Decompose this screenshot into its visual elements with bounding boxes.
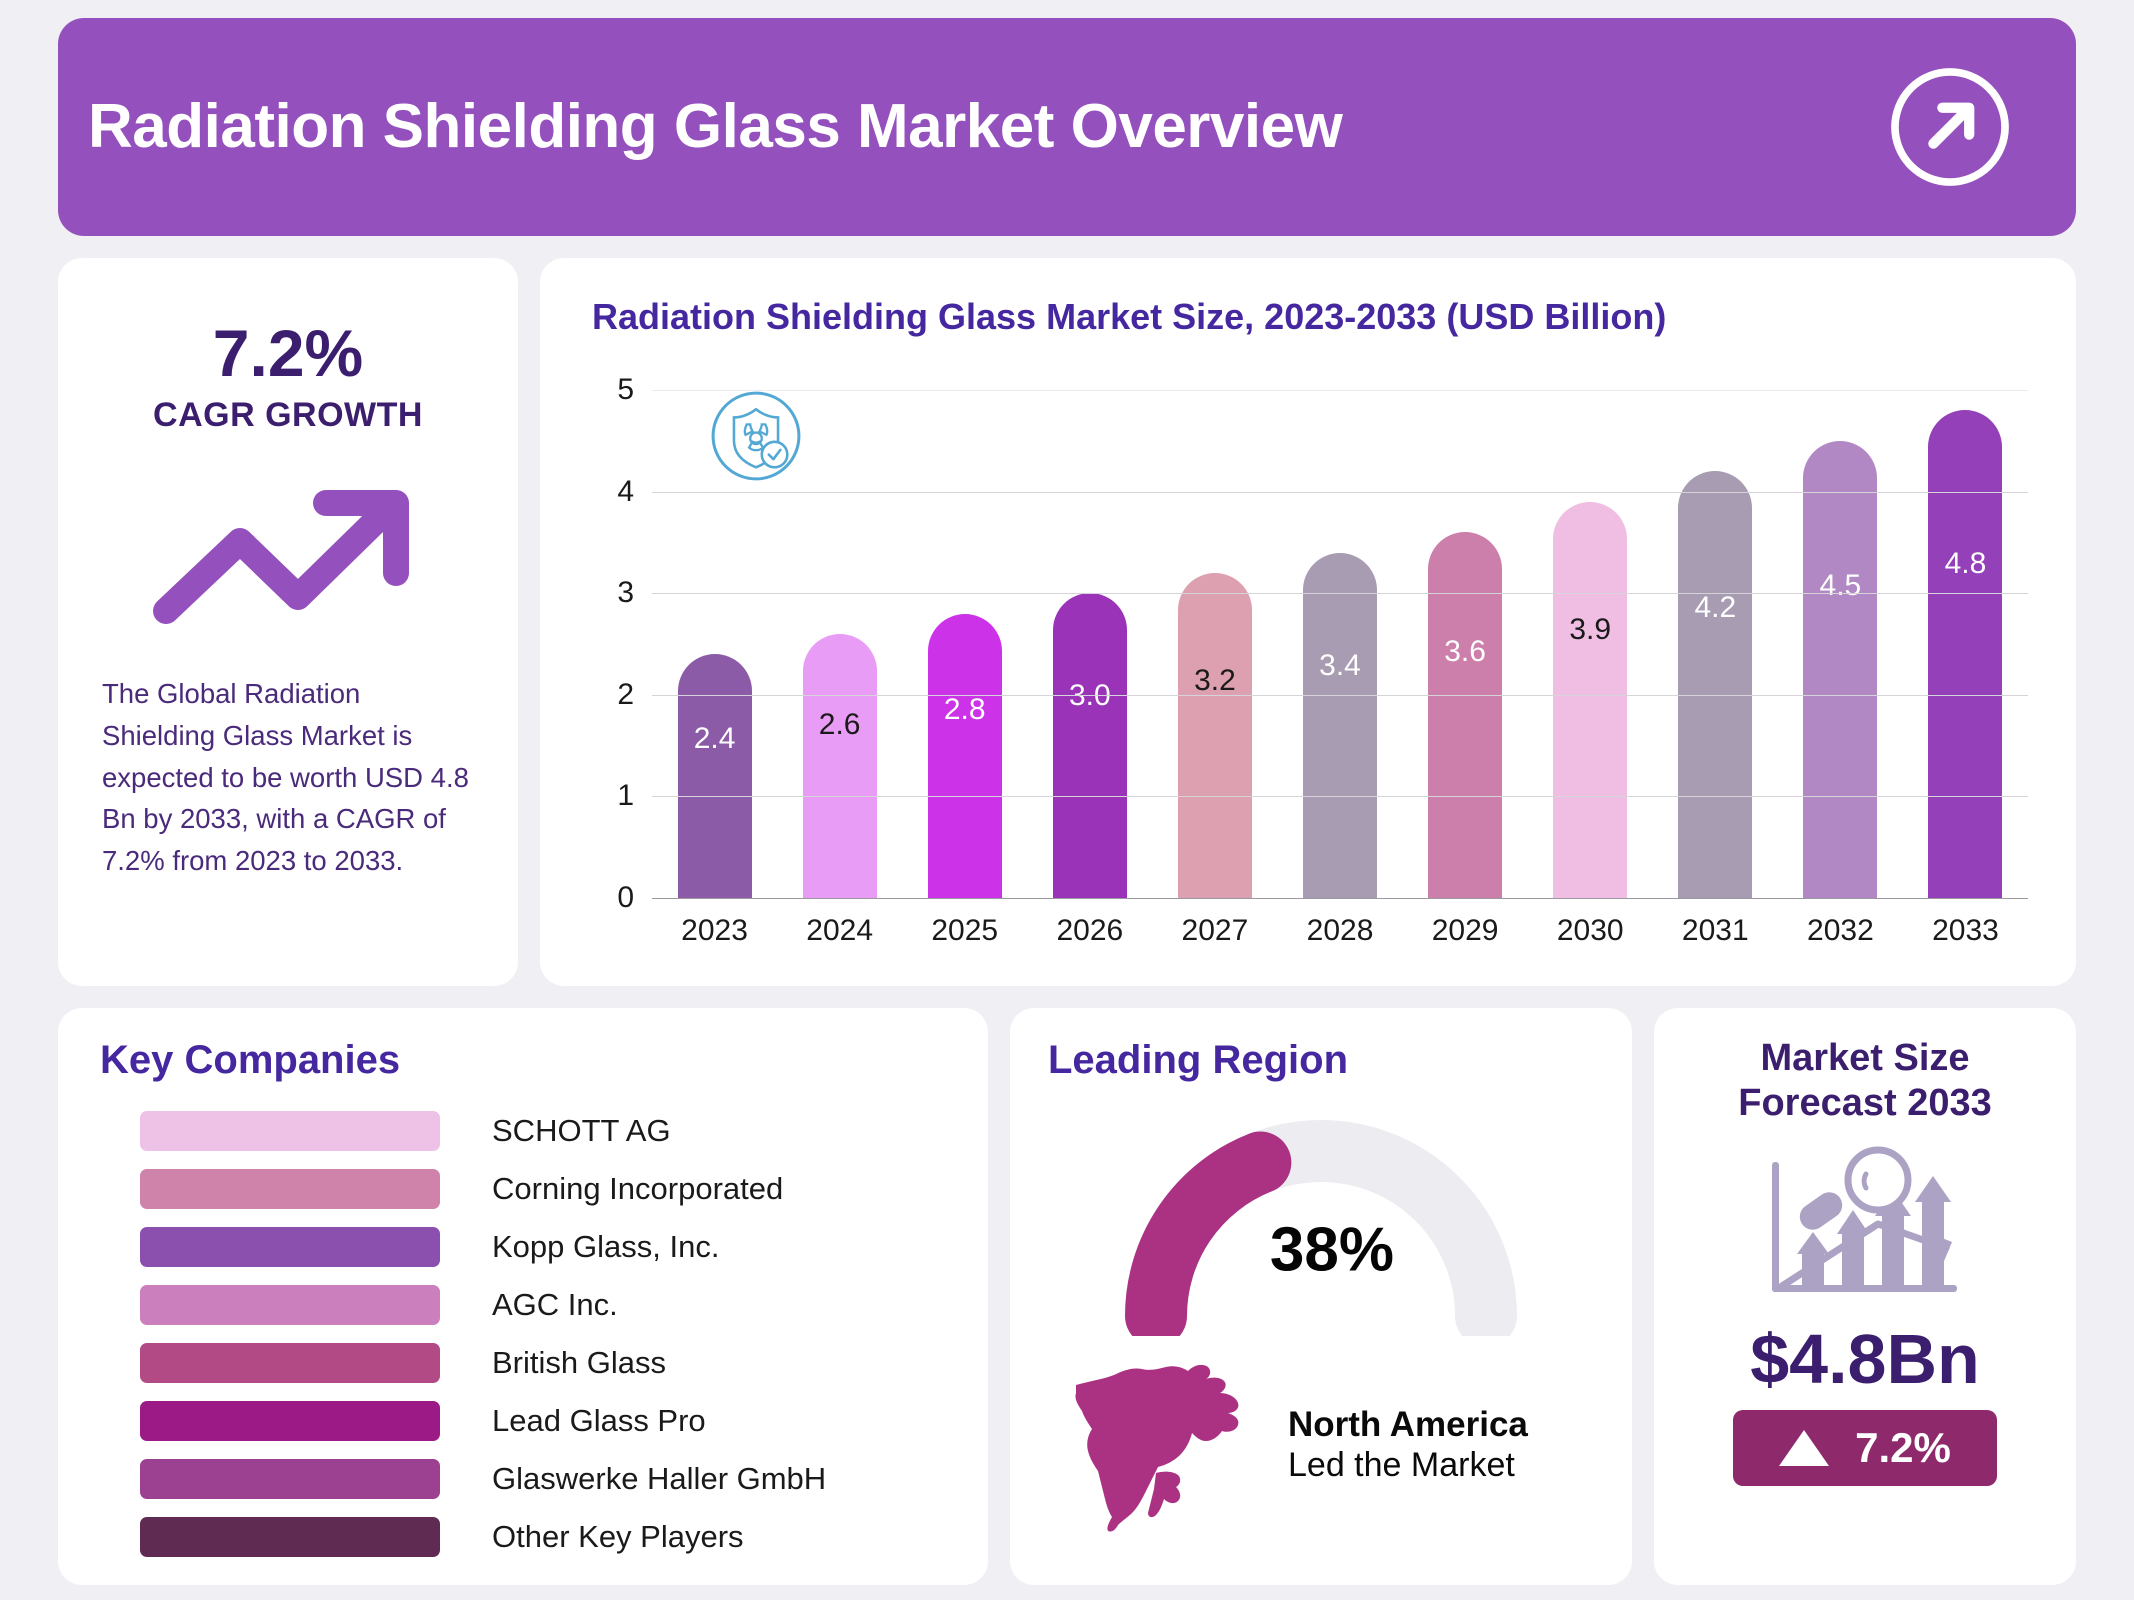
company-color-swatch: [140, 1111, 440, 1151]
x-axis-tick: 2023: [681, 914, 748, 948]
leading-region-card: Leading Region 38% North America Led: [1010, 1008, 1632, 1585]
top-row: 7.2% CAGR GROWTH The Global Radiation Sh…: [58, 258, 2076, 986]
company-name: AGC Inc.: [492, 1287, 618, 1323]
bar-value-label: 3.2: [1194, 664, 1236, 698]
infographic-page: Radiation Shielding Glass Market Overvie…: [0, 0, 2134, 1600]
bar-group: 3.92030: [1528, 390, 1653, 898]
cagr-card: 7.2% CAGR GROWTH The Global Radiation Sh…: [58, 258, 518, 986]
bar-value-label: 2.8: [944, 693, 986, 727]
region-subtitle: Led the Market: [1288, 1446, 1528, 1485]
gridline: [652, 898, 2028, 899]
x-axis-tick: 2033: [1932, 914, 1999, 948]
forecast-title: Market Size Forecast 2033: [1684, 1036, 2046, 1126]
company-name: Other Key Players: [492, 1519, 744, 1555]
y-axis-tick: 2: [617, 678, 634, 712]
chart-bar[interactable]: 3.2: [1178, 573, 1252, 898]
north-america-map-icon: [1070, 1355, 1270, 1535]
gridline: [652, 593, 2028, 594]
bar-group: 3.22027: [1152, 390, 1277, 898]
company-list-item[interactable]: SCHOTT AG: [100, 1107, 946, 1155]
chart-plot-area: 2.420232.620242.820253.020263.220273.420…: [574, 390, 2038, 960]
x-axis-tick: 2029: [1432, 914, 1499, 948]
x-axis-tick: 2028: [1307, 914, 1374, 948]
chart-bar[interactable]: 4.2: [1678, 471, 1752, 898]
company-name: Glaswerke Haller GmbH: [492, 1461, 826, 1497]
bar-group: 3.02026: [1027, 390, 1152, 898]
region-summary: North America Led the Market: [1048, 1355, 1594, 1535]
x-axis-tick: 2031: [1682, 914, 1749, 948]
chart-bar[interactable]: 3.6: [1428, 532, 1502, 898]
chart-bar[interactable]: 3.4: [1303, 553, 1377, 898]
key-companies-card: Key Companies SCHOTT AGCorning Incorpora…: [58, 1008, 988, 1585]
x-axis-tick: 2030: [1557, 914, 1624, 948]
bar-group: 3.42028: [1277, 390, 1402, 898]
x-axis-tick: 2025: [931, 914, 998, 948]
bottom-row: Key Companies SCHOTT AGCorning Incorpora…: [58, 1008, 2076, 1585]
y-axis-tick: 4: [617, 475, 634, 509]
forecast-badge-value: 7.2%: [1855, 1424, 1951, 1472]
company-color-swatch: [140, 1401, 440, 1441]
chart-bar[interactable]: 2.6: [803, 634, 877, 898]
y-axis-tick: 3: [617, 576, 634, 610]
company-color-swatch: [140, 1517, 440, 1557]
company-color-swatch: [140, 1285, 440, 1325]
growth-chart-magnifier-icon: [1750, 1144, 1980, 1314]
bar-value-label: 2.4: [694, 722, 736, 756]
company-color-swatch: [140, 1343, 440, 1383]
x-axis-tick: 2032: [1807, 914, 1874, 948]
chart-bar[interactable]: 4.8: [1928, 410, 2002, 898]
company-color-swatch: [140, 1169, 440, 1209]
chart-bar[interactable]: 3.0: [1053, 593, 1127, 898]
gridline: [652, 492, 2028, 493]
company-list: SCHOTT AGCorning IncorporatedKopp Glass,…: [100, 1107, 946, 1561]
gridline: [652, 695, 2028, 696]
company-color-swatch: [140, 1227, 440, 1267]
triangle-up-icon: [1779, 1430, 1829, 1466]
bar-group: 4.22031: [1653, 390, 1778, 898]
x-axis-tick: 2027: [1182, 914, 1249, 948]
company-name: SCHOTT AG: [492, 1113, 671, 1149]
bar-group: 2.62024: [777, 390, 902, 898]
forecast-growth-badge: 7.2%: [1733, 1410, 1997, 1486]
bar-group: 2.42023: [652, 390, 777, 898]
bar-value-label: 3.9: [1569, 613, 1611, 647]
chart-bar[interactable]: 2.4: [678, 654, 752, 898]
y-axis-tick: 0: [617, 881, 634, 915]
company-name: Lead Glass Pro: [492, 1403, 706, 1439]
chart-title: Radiation Shielding Glass Market Size, 2…: [592, 296, 2038, 338]
leading-region-title: Leading Region: [1048, 1038, 1594, 1083]
chart-bar[interactable]: 3.9: [1553, 502, 1627, 898]
gridline: [652, 390, 2028, 391]
market-size-forecast-card: Market Size Forecast 2033: [1654, 1008, 2076, 1585]
x-axis-tick: 2026: [1056, 914, 1123, 948]
company-list-item[interactable]: Kopp Glass, Inc.: [100, 1223, 946, 1271]
company-list-item[interactable]: Other Key Players: [100, 1513, 946, 1561]
company-list-item[interactable]: Lead Glass Pro: [100, 1397, 946, 1445]
chart-bar[interactable]: 2.8: [928, 614, 1002, 898]
bar-group: 3.62029: [1403, 390, 1528, 898]
bar-group: 2.82025: [902, 390, 1027, 898]
bar-group: 4.52032: [1778, 390, 1903, 898]
region-percent: 38%: [1270, 1214, 1394, 1285]
bar-value-label: 4.8: [1945, 547, 1987, 581]
bar-value-label: 2.6: [819, 708, 861, 742]
company-name: Corning Incorporated: [492, 1171, 783, 1207]
cagr-value: 7.2%: [213, 320, 363, 386]
region-name: North America: [1288, 1405, 1528, 1445]
gridline: [652, 796, 2028, 797]
bar-value-label: 3.4: [1319, 649, 1361, 683]
page-title: Radiation Shielding Glass Market Overvie…: [88, 94, 1342, 159]
company-name: Kopp Glass, Inc.: [492, 1229, 719, 1265]
region-gauge: 38%: [1048, 1101, 1594, 1341]
x-axis-tick: 2024: [806, 914, 873, 948]
cagr-label: CAGR GROWTH: [153, 396, 423, 435]
cagr-description: The Global Radiation Shielding Glass Mar…: [102, 673, 474, 882]
company-list-item[interactable]: Glaswerke Haller GmbH: [100, 1455, 946, 1503]
y-axis-tick: 1: [617, 779, 634, 813]
chart-bar[interactable]: 4.5: [1803, 441, 1877, 898]
y-axis-tick: 5: [617, 373, 634, 407]
company-list-item[interactable]: Corning Incorporated: [100, 1165, 946, 1213]
bar-group: 4.82033: [1903, 390, 2028, 898]
bar-value-label: 3.6: [1444, 635, 1486, 669]
bar-value-label: 4.2: [1694, 591, 1736, 625]
market-size-chart-card: Radiation Shielding Glass Market Size, 2…: [540, 258, 2076, 986]
company-list-item[interactable]: AGC Inc.: [100, 1281, 946, 1329]
trending-up-arrow-icon: [148, 479, 428, 629]
bar-value-label: 4.5: [1820, 569, 1862, 603]
key-companies-title: Key Companies: [100, 1038, 946, 1083]
page-header: Radiation Shielding Glass Market Overvie…: [58, 18, 2076, 236]
arrow-up-right-circle-icon[interactable]: [1886, 63, 2014, 191]
company-name: British Glass: [492, 1345, 666, 1381]
company-list-item[interactable]: British Glass: [100, 1339, 946, 1387]
forecast-value: $4.8Bn: [1750, 1324, 1980, 1394]
company-color-swatch: [140, 1459, 440, 1499]
